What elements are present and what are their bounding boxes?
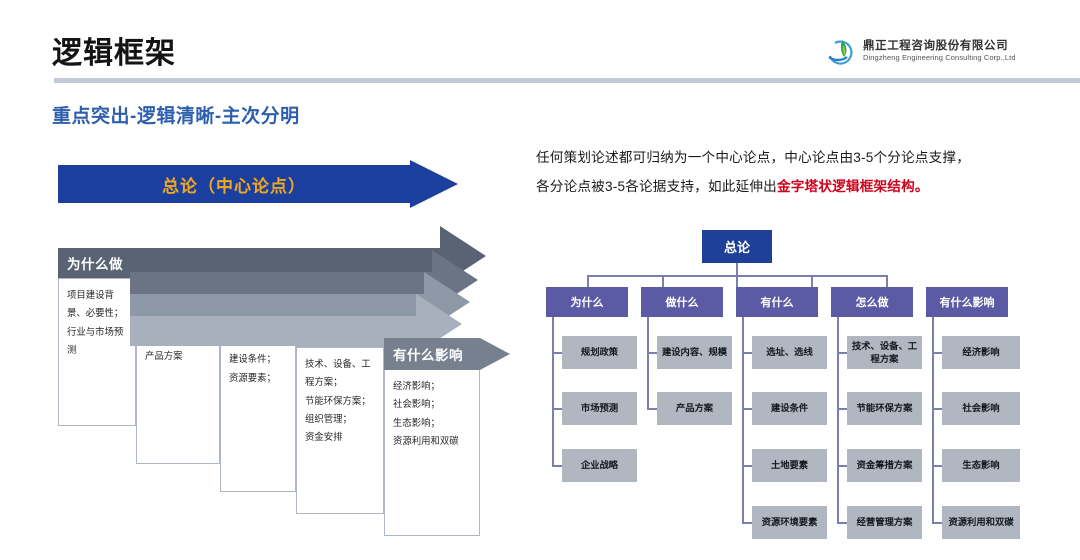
card-1-item-1: 行业与市场预测 xyxy=(67,323,127,360)
card-2-body: 建设内容、规模； 产品方案 xyxy=(136,302,220,464)
tree-leaf-2-2-label: 土地要素 xyxy=(771,459,808,472)
tree-branch-2: 有什么 xyxy=(736,287,818,317)
tree-branch-1-label: 做什么 xyxy=(666,294,699,310)
tree-branch-4-label: 有什么影响 xyxy=(940,294,995,310)
tree-connector-drop-4 xyxy=(886,275,888,287)
paragraph-line-2a: 各分论点被3-5各论据支持，如此延伸出 xyxy=(536,179,777,194)
tree-leaf-4-0-label: 经济影响 xyxy=(962,346,999,359)
explanation-paragraph: 任何策划论述都可归纳为一个中心论点，中心论点由3-5个分论点支撑， 各分论点被3… xyxy=(536,143,1052,201)
tree-tick-2-1 xyxy=(742,408,752,410)
card-3-body: 选址分析； 建设条件； 资源要素； xyxy=(220,324,296,492)
tree-connector-drop-0 xyxy=(587,275,589,287)
card-2-item-0: 建设内容、规模； xyxy=(145,310,211,347)
page-title: 逻辑框架 xyxy=(52,28,176,72)
tree-leaf-3-3-label: 经营管理方案 xyxy=(857,516,913,529)
card-4-item-2: 组织管理； xyxy=(305,410,375,428)
tree-tick-4-1 xyxy=(932,408,942,410)
tree-leaf-3-2-label: 资金筹措方案 xyxy=(857,459,913,472)
card-3-item-0: 选址分析； xyxy=(229,332,287,350)
tree-tick-3-1 xyxy=(837,408,847,410)
card-4-body: 技术、设备、工程方案； 节能环保方案； 组织管理； 资金安排 xyxy=(296,347,384,514)
tree-tick-4-3 xyxy=(932,522,942,524)
tree-branch-3-label: 怎么做 xyxy=(856,294,889,310)
tree-leaf-0-1: 市场预测 xyxy=(562,392,637,425)
card-2-title: 做什么 xyxy=(145,277,187,297)
card-5-item-0: 经济影响； xyxy=(393,377,471,395)
tree-leaf-4-2: 生态影响 xyxy=(942,449,1020,482)
card-5-item-2: 生态影响； xyxy=(393,414,471,432)
paragraph-line-1: 任何策划论述都可归纳为一个中心论点，中心论点由3-5个分论点支撑， xyxy=(536,143,1052,172)
logo-name-cn: 鼎正工程咨询股份有限公司 xyxy=(863,40,1016,53)
tree-branch-3: 怎么做 xyxy=(831,287,913,317)
tree-tick-3-2 xyxy=(837,465,847,467)
tree-tick-1-1 xyxy=(647,408,657,410)
card-4-header: 该怎么做 xyxy=(296,316,384,347)
tree-leaf-0-2: 企业战略 xyxy=(562,449,637,482)
tree-branch-1: 做什么 xyxy=(641,287,723,317)
tree-tick-4-0 xyxy=(932,352,942,354)
card-4-item-0: 技术、设备、工程方案； xyxy=(305,355,375,392)
pyramid-tree-diagram: 总论 为什么 做什么 有什么 怎么做 有什么影响 规划政策 市场预测 企业战略 xyxy=(530,220,1080,560)
tree-tick-0-0 xyxy=(552,352,562,354)
tree-leaf-0-2-label: 企业战略 xyxy=(581,459,618,472)
tree-leaf-4-1: 社会影响 xyxy=(942,392,1020,425)
tree-branch-2-label: 有什么 xyxy=(761,294,794,310)
tree-leaf-2-0: 选址、选线 xyxy=(752,336,827,369)
tree-tick-0-1 xyxy=(552,408,562,410)
tree-leaf-3-0: 技术、设备、工程方案 xyxy=(847,336,922,369)
tree-connector-drop-1 xyxy=(662,275,664,287)
tree-spine-2 xyxy=(742,317,744,523)
paragraph-highlight: 金字塔状逻辑框架结构。 xyxy=(777,179,929,194)
card-1-body: 项目建设背景、必要性； 行业与市场预测 xyxy=(58,278,136,426)
tree-spine-4 xyxy=(932,317,934,523)
tree-spine-3 xyxy=(837,317,839,523)
tree-leaf-4-3: 资源利用和双碳 xyxy=(942,506,1020,539)
tree-leaf-0-1-label: 市场预测 xyxy=(581,402,618,415)
card-3-item-1: 建设条件； xyxy=(229,350,287,368)
tree-leaf-3-0-label: 技术、设备、工程方案 xyxy=(850,340,919,365)
tree-tick-2-0 xyxy=(742,352,752,354)
tree-connector-drop-2 xyxy=(736,275,738,287)
tree-leaf-4-2-label: 生态影响 xyxy=(962,459,999,472)
main-thesis-arrow: 总论（中心论点） xyxy=(58,160,458,208)
tree-tick-2-3 xyxy=(742,522,752,524)
card-5-body: 经济影响； 社会影响； 生态影响； 资源利用和双碳 xyxy=(384,369,480,536)
tree-leaf-1-1: 产品方案 xyxy=(657,392,732,425)
tree-tick-1-0 xyxy=(647,352,657,354)
tree-tick-4-2 xyxy=(932,465,942,467)
tree-leaf-1-1-label: 产品方案 xyxy=(676,402,713,415)
tree-spine-0 xyxy=(552,317,554,466)
tree-root-label: 总论 xyxy=(724,237,750,256)
card-3-title: 有什么 xyxy=(229,299,271,319)
tree-leaf-1-0-label: 建设内容、规模 xyxy=(662,346,727,359)
tree-leaf-0-0-label: 规划政策 xyxy=(581,346,618,359)
tree-leaf-4-3-label: 资源利用和双碳 xyxy=(948,516,1013,529)
tree-connector-drop-3 xyxy=(811,275,813,287)
tree-leaf-2-1: 建设条件 xyxy=(752,392,827,425)
tree-leaf-3-1-label: 节能环保方案 xyxy=(857,402,913,415)
card-5-item-3: 资源利用和双碳 xyxy=(393,432,471,450)
card-5-item-1: 社会影响； xyxy=(393,395,471,413)
card-4-title: 该怎么做 xyxy=(305,322,361,342)
tree-leaf-2-0-label: 选址、选线 xyxy=(766,346,813,359)
tree-leaf-2-1-label: 建设条件 xyxy=(771,402,808,415)
tree-branch-0-label: 为什么 xyxy=(571,294,604,310)
tree-leaf-1-0: 建设内容、规模 xyxy=(657,336,732,369)
card-1-title: 为什么做 xyxy=(67,253,123,273)
tree-tick-2-2 xyxy=(742,465,752,467)
logo-name-en: Dingzheng Engineering Consulting Corp.,L… xyxy=(863,53,1016,62)
tree-branch-4: 有什么影响 xyxy=(926,287,1008,317)
tree-root-node: 总论 xyxy=(702,230,772,263)
tree-branch-0: 为什么 xyxy=(546,287,628,317)
card-4-item-3: 资金安排 xyxy=(305,428,375,446)
card-1-item-0: 项目建设背景、必要性； xyxy=(67,286,127,323)
card-5-title-text: 有什么影响 xyxy=(393,344,463,364)
tree-leaf-4-0: 经济影响 xyxy=(942,336,1020,369)
tree-tick-3-0 xyxy=(837,352,847,354)
tree-tick-3-3 xyxy=(837,522,847,524)
tree-leaf-0-0: 规划政策 xyxy=(562,336,637,369)
tree-leaf-3-1: 节能环保方案 xyxy=(847,392,922,425)
card-3-header: 有什么 xyxy=(220,294,296,324)
slide-root: 逻辑框架 重点突出-逻辑清晰-主次分明 鼎正工程咨询股份有限公司 Dingzhe… xyxy=(0,0,1080,560)
tree-leaf-4-1-label: 社会影响 xyxy=(962,402,999,415)
tree-leaf-3-2: 资金筹措方案 xyxy=(847,449,922,482)
tree-leaf-2-2: 土地要素 xyxy=(752,449,827,482)
tree-connector-root-stem xyxy=(736,263,738,275)
card-1-header: 为什么做 xyxy=(58,248,136,278)
tree-leaf-3-3: 经营管理方案 xyxy=(847,506,922,539)
tree-leaf-2-3: 资源环境要素 xyxy=(752,506,827,539)
card-4-item-1: 节能环保方案； xyxy=(305,392,375,410)
main-thesis-label: 总论（中心论点） xyxy=(58,160,410,208)
card-3-item-2: 资源要素； xyxy=(229,369,287,387)
tree-leaf-2-3-label: 资源环境要素 xyxy=(762,516,818,529)
company-logo: 鼎正工程咨询股份有限公司 Dingzheng Engineering Consu… xyxy=(826,36,1016,66)
dingzheng-leaf-logo-icon xyxy=(826,36,856,66)
page-subtitle: 重点突出-逻辑清晰-主次分明 xyxy=(52,101,300,128)
tree-tick-0-2 xyxy=(552,465,562,467)
tree-spine-1 xyxy=(647,317,649,409)
card-5-header-top: 有什么影响 xyxy=(384,338,480,369)
title-divider xyxy=(54,78,1080,83)
card-2-header: 做什么 xyxy=(136,272,220,302)
card-2-item-1: 产品方案 xyxy=(145,347,211,365)
